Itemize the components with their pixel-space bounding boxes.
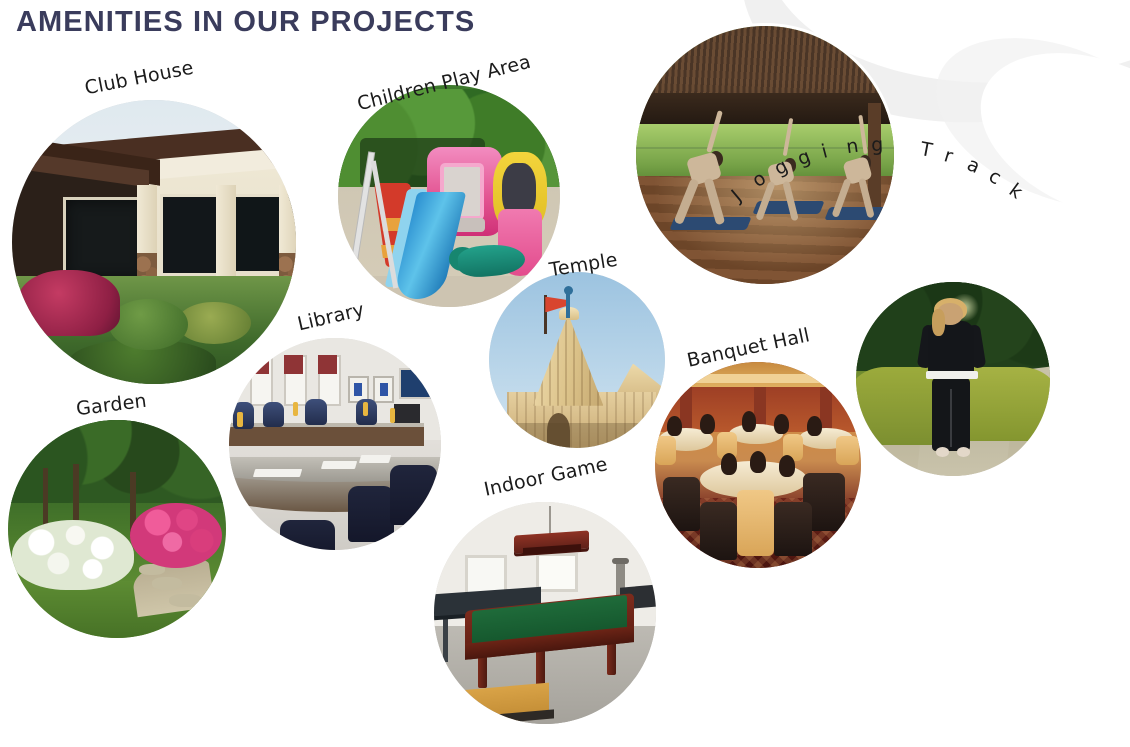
amenity-image-banquet-hall [655,362,861,568]
corner-swoosh-secondary-icon [911,5,1130,241]
amenity-image-garden [8,420,226,638]
corner-swoosh-secondary-mask [956,21,1130,254]
page-title: AMENITIES IN OUR PROJECTS [16,6,475,39]
amenity-label-indoor-game: Indoor Game [482,453,609,501]
amenity-image-jogging-track [856,282,1050,476]
amenity-image-library [229,338,441,550]
amenity-label-club-house: Club House [83,57,195,100]
amenity-image-indoor-game [434,502,656,724]
amenity-image-temple [489,272,665,448]
amenity-label-garden: Garden [75,390,148,420]
amenities-poster: AMENITIES IN OUR PROJECTS Club House [0,0,1130,747]
amenity-label-library: Library [295,299,366,336]
